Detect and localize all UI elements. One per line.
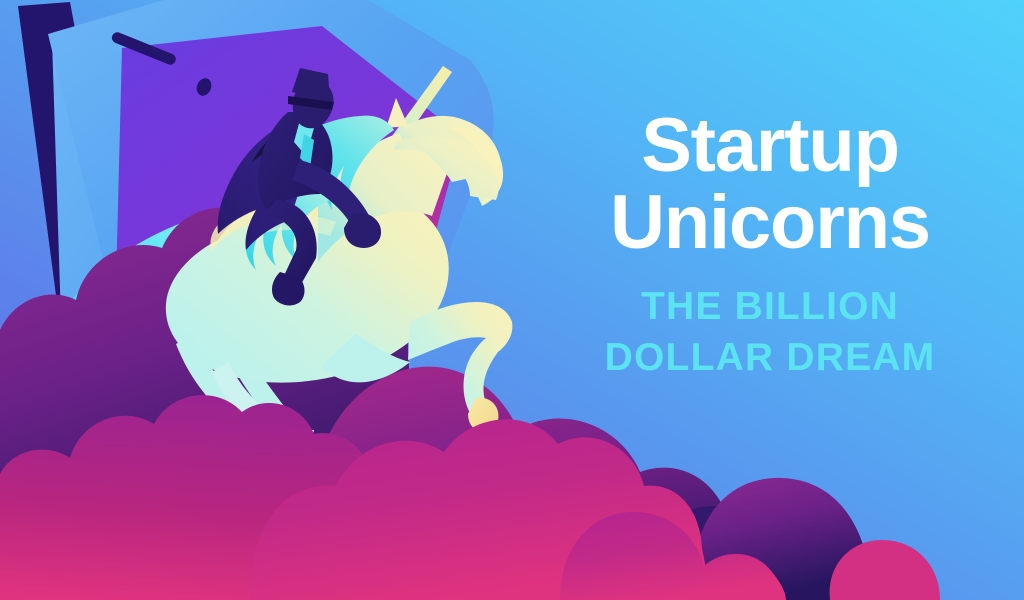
poster-canvas: Startup Unicorns THE BILLION DOLLAR DREA… — [0, 0, 1024, 600]
title-line-1: Startup — [560, 108, 980, 183]
page-title: Startup Unicorns — [560, 108, 980, 260]
text-block: Startup Unicorns THE BILLION DOLLAR DREA… — [560, 108, 980, 384]
title-line-2: Unicorns — [560, 185, 980, 260]
subtitle-line-1: THE BILLION — [560, 282, 980, 333]
subtitle: THE BILLION DOLLAR DREAM — [560, 282, 980, 383]
subtitle-line-2: DOLLAR DREAM — [560, 333, 980, 384]
